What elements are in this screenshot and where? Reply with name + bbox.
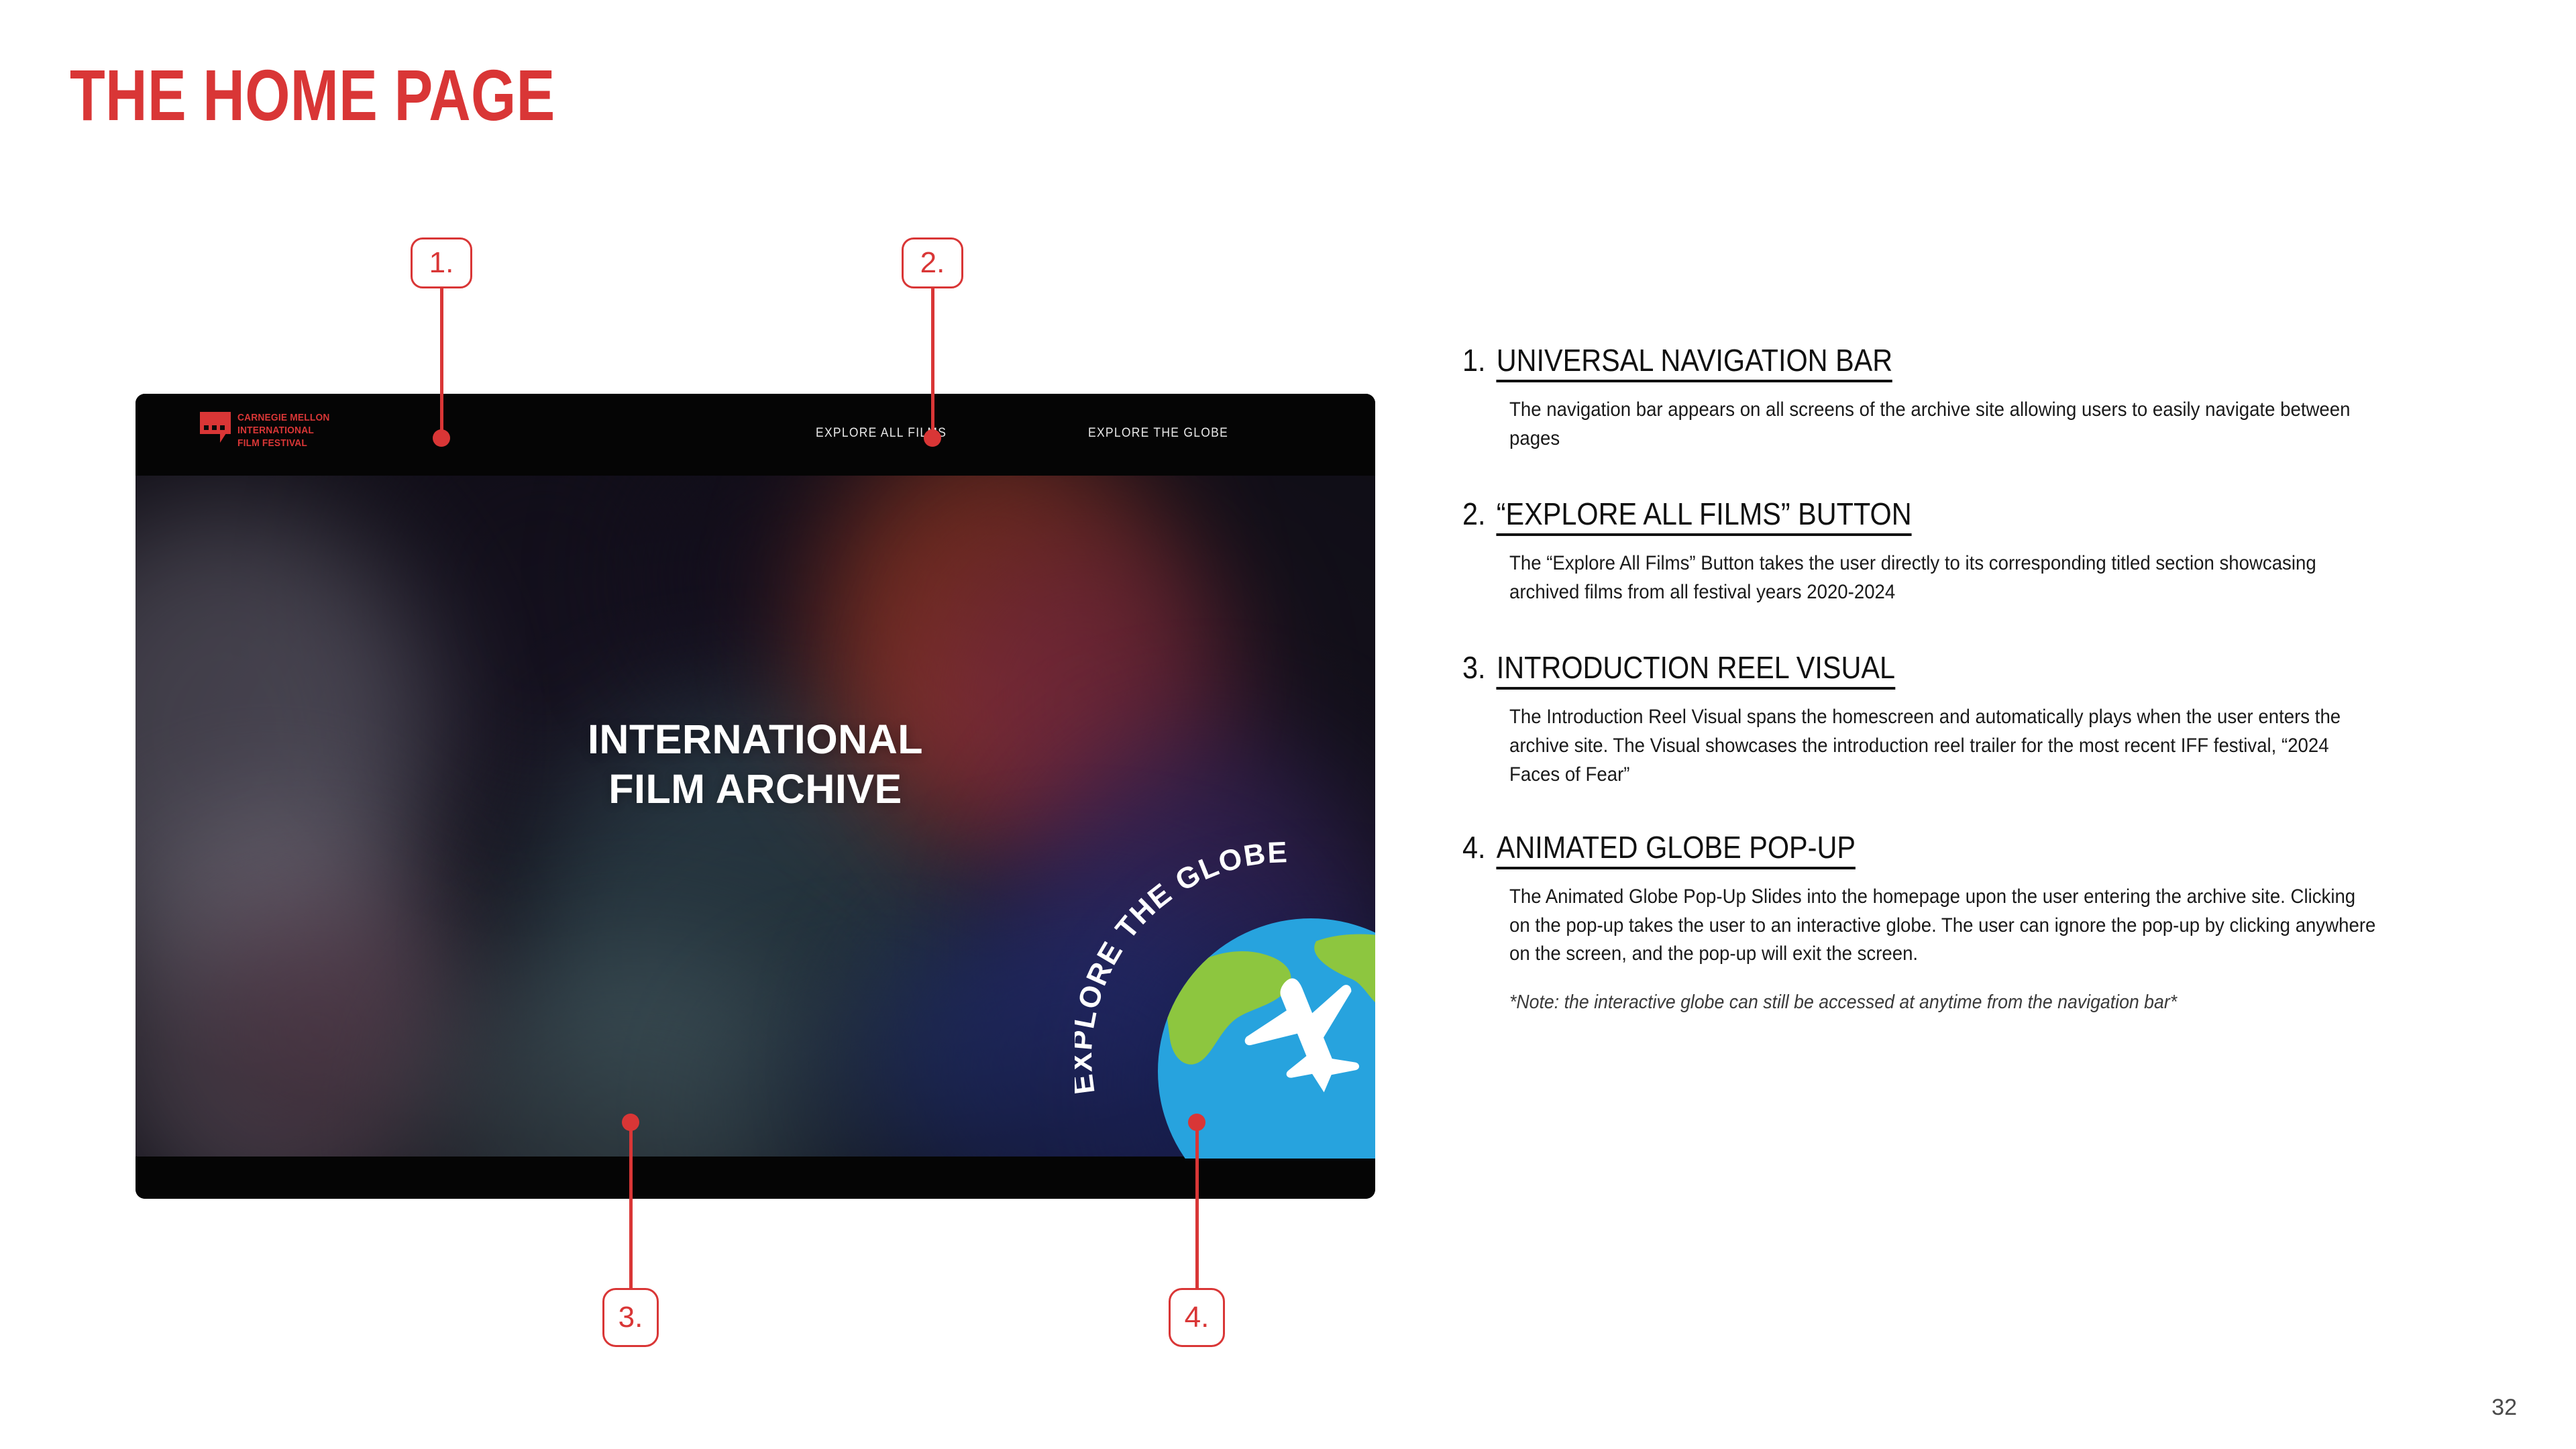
hero-title-line-2: FILM ARCHIVE — [136, 764, 1375, 814]
annotation-heading-3: 3. INTRODUCTION REEL VISUAL — [1462, 649, 2356, 690]
annotation-number-1: 1. — [1462, 342, 1486, 378]
annotation-item-2: 2. “EXPLORE ALL FILMS” BUTTON The “Explo… — [1462, 496, 2455, 606]
animated-globe-popup[interactable]: EXPLORE THE GLOBE — [1075, 823, 1375, 1159]
annotation-item-1: 1. UNIVERSAL NAVIGATION BAR The navigati… — [1462, 342, 2455, 453]
logo-line-2: INTERNATIONAL — [237, 425, 330, 437]
logo-wordmark: CARNEGIE MELLON INTERNATIONAL FILM FESTI… — [237, 412, 330, 450]
nav-link-explore-the-globe[interactable]: EXPLORE THE GLOBE — [1088, 426, 1228, 441]
leader-dot-4 — [1188, 1114, 1205, 1131]
annotation-body-4: The Animated Globe Pop-Up Slides into th… — [1509, 883, 2379, 969]
site-logo[interactable]: CARNEGIE MELLON INTERNATIONAL FILM FESTI… — [200, 412, 335, 450]
leader-dot-2 — [924, 429, 941, 447]
annotation-heading-2: 2. “EXPLORE ALL FILMS” BUTTON — [1462, 496, 2356, 536]
annotation-body-3: The Introduction Reel Visual spans the h… — [1509, 703, 2379, 789]
annotation-list: 1. UNIVERSAL NAVIGATION BAR The navigati… — [1462, 342, 2455, 1046]
callout-chip-4[interactable]: 4. — [1169, 1288, 1225, 1347]
annotation-number-4: 4. — [1462, 829, 1486, 865]
page-title: THE HOME PAGE — [70, 59, 555, 131]
annotation-title-3: INTRODUCTION REEL VISUAL — [1497, 649, 1895, 690]
annotation-item-4: 4. ANIMATED GLOBE POP-UP The Animated Gl… — [1462, 829, 2455, 1016]
film-festival-speech-bubble-logo-icon — [200, 412, 231, 439]
leader-line-1 — [440, 288, 443, 437]
annotation-title-2: “EXPLORE ALL FILMS” BUTTON — [1497, 496, 1912, 536]
annotation-title-4: ANIMATED GLOBE POP-UP — [1497, 829, 1856, 869]
annotation-body-1: The navigation bar appears on all screen… — [1509, 396, 2379, 453]
annotation-item-3: 3. INTRODUCTION REEL VISUAL The Introduc… — [1462, 649, 2455, 789]
leader-dot-3 — [622, 1114, 639, 1131]
universal-navigation-bar: CARNEGIE MELLON INTERNATIONAL FILM FESTI… — [136, 394, 1375, 476]
leader-dot-1 — [433, 429, 450, 447]
leader-line-3 — [629, 1119, 633, 1289]
hero-title-line-1: INTERNATIONAL — [136, 714, 1375, 764]
leader-line-2 — [931, 288, 934, 437]
annotation-heading-1: 1. UNIVERSAL NAVIGATION BAR — [1462, 342, 2356, 382]
logo-line-1: CARNEGIE MELLON — [237, 412, 330, 425]
annotation-title-1: UNIVERSAL NAVIGATION BAR — [1497, 342, 1892, 382]
hero-title: INTERNATIONAL FILM ARCHIVE — [136, 714, 1375, 814]
callout-chip-2[interactable]: 2. — [902, 237, 963, 288]
mockup-footer-bar — [136, 1157, 1375, 1199]
page-number: 32 — [2491, 1395, 2517, 1421]
annotation-number-3: 3. — [1462, 649, 1486, 686]
callout-chip-1[interactable]: 1. — [411, 237, 472, 288]
logo-line-3: FILM FESTIVAL — [237, 437, 330, 450]
annotation-body-2: The “Explore All Films” Button takes the… — [1509, 549, 2379, 606]
leader-line-4 — [1195, 1119, 1199, 1289]
annotation-number-2: 2. — [1462, 496, 1486, 532]
globe-with-airplane-icon: EXPLORE THE GLOBE — [1075, 823, 1375, 1159]
homepage-mockup: INTERNATIONAL FILM ARCHIVE EXPLORE THE G… — [136, 394, 1375, 1199]
callout-chip-3[interactable]: 3. — [602, 1288, 659, 1347]
annotation-note-4: *Note: the interactive globe can still b… — [1509, 989, 2379, 1016]
slide-canvas: THE HOME PAGE 1. 2. 3. 4. IN — [0, 0, 2576, 1449]
annotation-heading-4: 4. ANIMATED GLOBE POP-UP — [1462, 829, 2356, 869]
